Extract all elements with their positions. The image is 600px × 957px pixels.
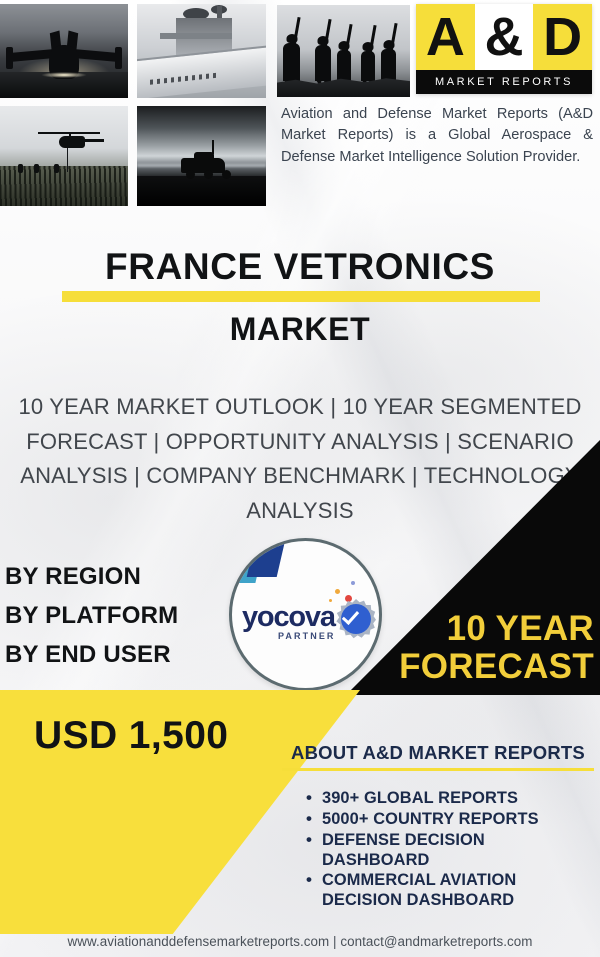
soldier-silhouette: [337, 50, 351, 81]
warship-image: [137, 4, 266, 98]
segmentation-by-region: BY REGION: [5, 558, 235, 597]
soldier-silhouette: [315, 45, 331, 81]
soldier-rifle: [389, 23, 397, 53]
soldier-rifle: [344, 24, 352, 54]
about-section: ABOUT A&D MARKET REPORTS 390+ GLOBAL REP…: [282, 742, 594, 912]
yocova-partner-label: PARTNER: [278, 631, 336, 641]
helicopter-tail-boom: [82, 139, 104, 142]
list-item: COMMERCIAL AVIATION DECISION DASHBOARD: [306, 871, 594, 911]
logo-ampersand: &: [475, 4, 534, 70]
list-item: DEFENSE DECISION DASHBOARD: [306, 831, 594, 871]
jet-right-wingtip: [115, 47, 122, 69]
segmentation-by-platform: BY PLATFORM: [5, 597, 235, 636]
logo-tagline: MARKET REPORTS: [416, 70, 592, 94]
jet-deck-lights: [41, 72, 87, 78]
photo-naval-warship: [137, 4, 266, 98]
fighter-jet-image: [0, 4, 128, 98]
footer-website[interactable]: www.aviationanddefensemarketreports.com: [68, 934, 330, 949]
company-description: Aviation and Defense Market Reports (A&D…: [281, 104, 593, 168]
photo-soldiers-silhouette: [277, 5, 410, 97]
about-heading: ABOUT A&D MARKET REPORTS: [282, 742, 594, 768]
report-cover-poster: A & D MARKET REPORTS Aviation and Defens…: [0, 0, 600, 957]
soldier-silhouette: [381, 49, 396, 81]
soldier-silhouette: [283, 43, 300, 81]
helicopter-fuselage: [59, 136, 85, 148]
list-item: 390+ GLOBAL REPORTS: [306, 789, 594, 809]
title-divider-rule: [62, 291, 540, 302]
jet-left-wingtip: [6, 47, 13, 69]
price-value: USD 1,500: [34, 714, 228, 758]
segmentation-list: BY REGION BY PLATFORM BY END USER: [5, 558, 235, 675]
troop-figure: [18, 164, 23, 173]
footer-email[interactable]: contact@andmarketreports.com: [340, 934, 532, 949]
vehicle-wheel: [186, 170, 195, 179]
footer-separator: |: [329, 934, 340, 949]
logo-letter-d: D: [533, 4, 592, 70]
yocova-wordmark: yocova: [242, 601, 344, 634]
helicopter-rope: [67, 148, 68, 172]
photo-fighter-jet-on-carrier-deck: [0, 4, 128, 98]
about-bullet-list: 390+ GLOBAL REPORTS 5000+ COUNTRY REPORT…: [306, 789, 594, 911]
yocova-partner-badge: yocova PARTNER: [229, 538, 382, 691]
soldier-rifle: [368, 25, 376, 55]
soldiers-image: [277, 5, 410, 97]
troop-figure: [34, 164, 39, 173]
sparkle-dot-orange: [335, 589, 340, 594]
report-scope-text: 10 YEAR MARKET OUTLOOK | 10 YEAR SEGMENT…: [16, 390, 584, 528]
armoured-vehicle-image: [137, 106, 266, 206]
verified-check-seal-icon: [336, 599, 376, 639]
jet-right-wing: [72, 49, 120, 62]
photo-armoured-vehicle: [137, 106, 266, 206]
troop-figure: [54, 164, 59, 173]
vehicle-wheel: [204, 170, 213, 179]
sparkle-dot-blue: [351, 581, 355, 585]
soldier-rifle: [324, 19, 332, 49]
page-subtitle: MARKET: [0, 311, 600, 348]
page-title: FRANCE VETRONICS: [0, 246, 600, 288]
soldier-rifle: [292, 17, 300, 47]
forecast-line-2: FORECAST: [364, 648, 594, 685]
footer-contact: www.aviationanddefensemarketreports.com …: [0, 934, 600, 949]
vehicle-ground: [137, 176, 266, 206]
list-item: 5000+ COUNTRY REPORTS: [306, 810, 594, 830]
helicopter-image: [0, 106, 128, 206]
ship-hull: [137, 44, 266, 98]
photo-military-helicopter: [0, 106, 128, 206]
soldier-silhouette: [361, 51, 375, 81]
logo-letter-a: A: [416, 4, 475, 70]
logo-letter-tiles: A & D: [416, 4, 592, 70]
ad-market-reports-logo: A & D MARKET REPORTS: [416, 4, 592, 94]
segmentation-by-end-user: BY END USER: [5, 636, 235, 675]
about-underline-rule: [282, 768, 594, 771]
